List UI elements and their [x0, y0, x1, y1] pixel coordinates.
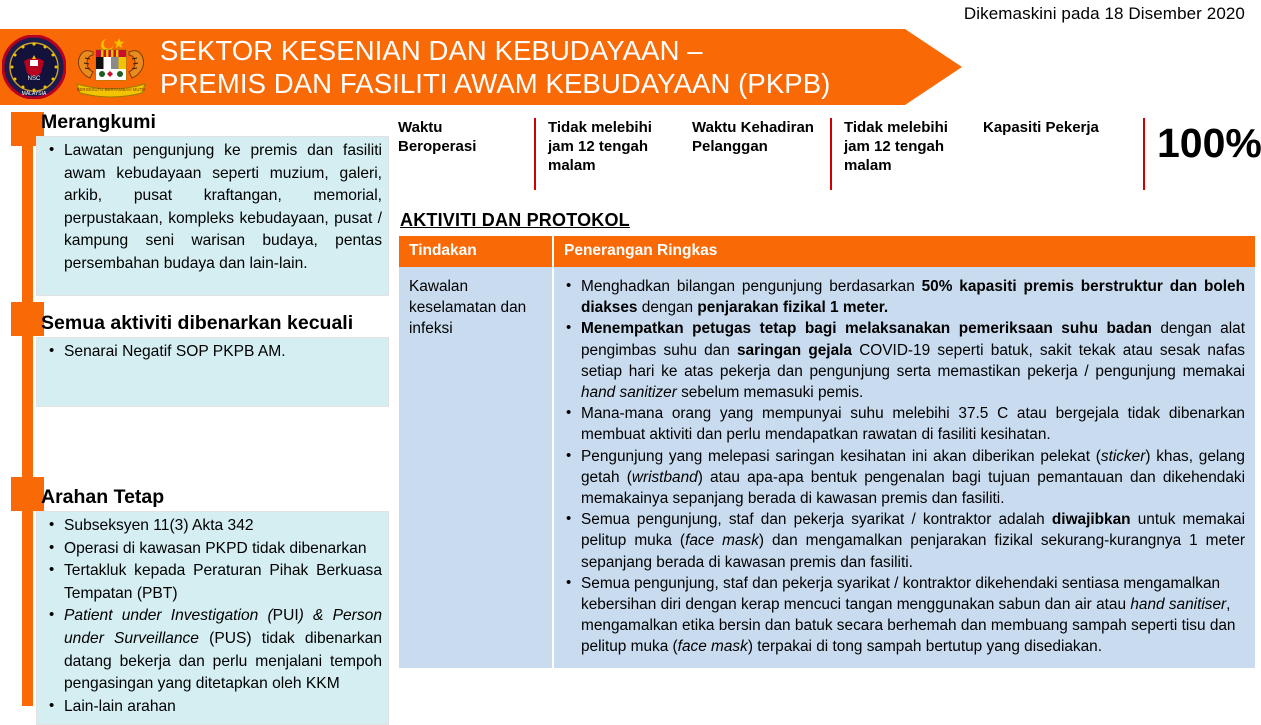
list-item: Semua pengunjung, staf dan pekerja syari… [564, 573, 1245, 658]
spacer [36, 407, 389, 485]
list-item: Menempatkan petugas tetap bagi melaksana… [564, 318, 1245, 403]
title-banner: NSC MALAYSIA BERS [0, 29, 962, 105]
section-kecuali: Semua aktiviti dibenarkan kecuali Senara… [36, 311, 389, 407]
stat-waktu-beroperasi-value: Tidak melebihi jam 12 tengah malam [534, 118, 684, 190]
operating-stats-strip: Waktu Beroperasi Tidak melebihi jam 12 t… [398, 118, 1256, 190]
section-body-kecuali: Senarai Negatif SOP PKPB AM. [36, 337, 389, 407]
stat-waktu-kehadiran-value: Tidak melebihi jam 12 tengah malam [830, 118, 980, 190]
list-item: Lawatan pengunjung ke premis dan fasilit… [43, 140, 382, 276]
cell-tindakan: Kawalan keselamatan dan infeksi [399, 267, 553, 668]
section-title-merangkumi: Merangkumi [36, 110, 389, 134]
column-header-penerangan: Penerangan Ringkas [553, 236, 1255, 267]
section-arahan-tetap: Arahan Tetap Subseksyen 11(3) Akta 342 O… [36, 485, 389, 725]
timeline-rail [22, 120, 33, 706]
svg-text:MALAYSIA: MALAYSIA [22, 91, 47, 97]
list-item: Operasi di kawasan PKPD tidak dibenarkan [43, 538, 382, 561]
jata-negara-malaysia-coat-of-arms: BERSEKUTU BERTAMBAH MUTU [63, 34, 159, 102]
section-title-arahan-tetap: Arahan Tetap [36, 485, 389, 509]
list-item: Lain-lain arahan [43, 696, 382, 719]
banner-title: SEKTOR KESENIAN DAN KEBUDAYAAN – PREMIS … [160, 34, 900, 100]
spacer [36, 296, 389, 311]
list-item: Subseksyen 11(3) Akta 342 [43, 515, 382, 538]
stat-waktu-kehadiran-label: Waktu Kehadiran Pelanggan [692, 118, 842, 190]
section-body-merangkumi: Lawatan pengunjung ke premis dan fasilit… [36, 136, 389, 296]
stat-waktu-beroperasi-label: Waktu Beroperasi [398, 118, 538, 190]
section-body-arahan-tetap: Subseksyen 11(3) Akta 342 Operasi di kaw… [36, 511, 389, 725]
left-summary-column: Merangkumi Lawatan pengunjung ke premis … [36, 110, 389, 725]
column-header-tindakan: Tindakan [399, 236, 553, 267]
table-row: Kawalan keselamatan dan infeksi Menghadk… [399, 267, 1255, 668]
list-item: Senarai Negatif SOP PKPB AM. [43, 341, 382, 364]
majlis-keselamatan-negara-nsc-logo: NSC MALAYSIA [2, 35, 66, 99]
stat-kapasiti-pekerja-label: Kapasiti Pekerja [983, 118, 1143, 190]
list-item: Pengunjung yang melepasi saringan kesiha… [564, 446, 1245, 510]
section-title-kecuali: Semua aktiviti dibenarkan kecuali [36, 311, 389, 335]
banner-arrow-tip [905, 29, 962, 105]
last-updated-note: Dikemaskini pada 18 Disember 2020 [0, 4, 1245, 24]
list-item: Semua pengunjung, staf dan pekerja syari… [564, 509, 1245, 573]
list-item: Mana-mana orang yang mempunyai suhu mele… [564, 403, 1245, 445]
svg-text:BERSEKUTU BERTAMBAH MUTU: BERSEKUTU BERTAMBAH MUTU [77, 87, 146, 92]
protocol-table: Tindakan Penerangan Ringkas Kawalan kese… [399, 236, 1255, 668]
protocol-section-heading: AKTIVITI DAN PROTOKOL [400, 210, 630, 231]
section-merangkumi: Merangkumi Lawatan pengunjung ke premis … [36, 110, 389, 296]
cell-penerangan: Menghadkan bilangan pengunjung berdasark… [553, 267, 1255, 668]
list-item: Tertakluk kepada Peraturan Pihak Berkuas… [43, 560, 382, 605]
table-header-row: Tindakan Penerangan Ringkas [399, 236, 1255, 267]
list-item: Patient under Investigation (PUI) & Pers… [43, 605, 382, 695]
stat-kapasiti-pekerja-value: 100% [1143, 118, 1258, 190]
list-item: Menghadkan bilangan pengunjung berdasark… [564, 276, 1245, 318]
svg-text:NSC: NSC [28, 76, 41, 82]
